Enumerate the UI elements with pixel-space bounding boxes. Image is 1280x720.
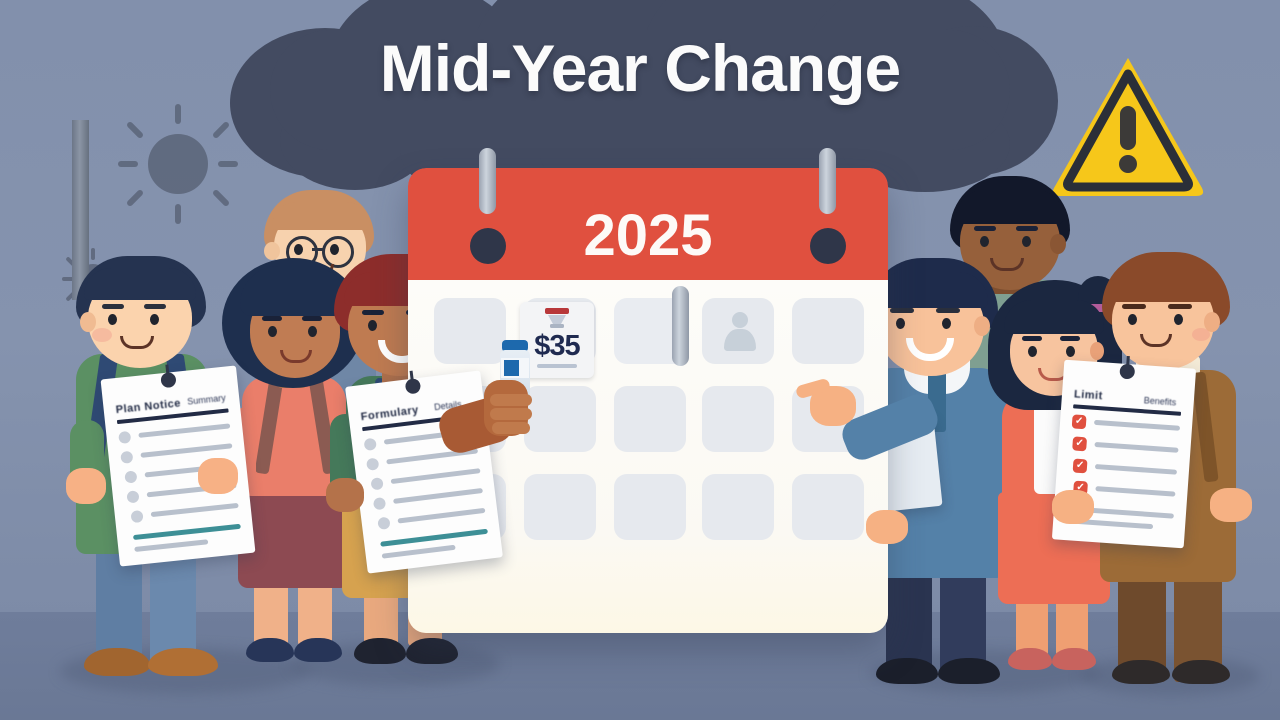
eyebrow: [144, 304, 166, 309]
binder-ring-base: [470, 228, 506, 264]
eye: [268, 326, 277, 337]
eyebrow: [974, 226, 996, 231]
calendar-cell[interactable]: [792, 298, 864, 364]
check-mark-icon: [364, 438, 377, 451]
person-icon: [724, 312, 754, 352]
document-line: [1094, 420, 1180, 431]
check-mark-icon: [126, 490, 139, 503]
eye: [108, 314, 117, 325]
check-mark-icon: [370, 477, 383, 490]
check-mark-icon: ✓: [1072, 414, 1087, 429]
eye: [294, 244, 303, 255]
hair-fringe: [84, 268, 196, 300]
hair-fringe: [874, 272, 988, 308]
binder-ring-base: [810, 228, 846, 264]
calendar-cell[interactable]: [614, 386, 686, 452]
eye: [896, 318, 905, 329]
eyebrow: [1060, 336, 1080, 341]
eye: [1028, 346, 1037, 357]
hand: [198, 458, 238, 494]
eye: [1128, 314, 1137, 325]
hair-fringe: [272, 202, 370, 230]
eye: [150, 314, 159, 325]
document-meta: Summary: [187, 393, 226, 407]
check-mark-icon: [118, 431, 131, 444]
eyebrow: [936, 308, 960, 313]
hand: [1052, 490, 1094, 524]
document-line: [134, 539, 208, 552]
binder-ring: [819, 148, 836, 214]
illustration-canvas: Mid-Year Change: [0, 0, 1280, 720]
eyebrow: [890, 308, 914, 313]
shoe: [354, 638, 406, 664]
binder-ring: [479, 148, 496, 214]
document-line: [382, 545, 456, 559]
check-mark-icon: ✓: [1073, 458, 1088, 473]
calendar-cell[interactable]: [524, 474, 596, 540]
shoe: [406, 638, 458, 664]
eye: [1022, 236, 1031, 247]
eyebrow: [102, 304, 124, 309]
cheek: [1192, 328, 1210, 341]
document-line: [151, 503, 239, 517]
clip-icon: [405, 378, 422, 395]
check-mark-icon: ✓: [1072, 436, 1087, 451]
vial-hand: [440, 372, 536, 464]
calendar-cell[interactable]: [702, 474, 774, 540]
check-mark-icon: [366, 458, 379, 471]
eyebrow: [302, 316, 322, 321]
ear: [1050, 234, 1066, 254]
hair-fringe: [1108, 268, 1218, 302]
hair-fringe: [956, 190, 1064, 224]
eye: [980, 236, 989, 247]
check-mark-icon: [377, 517, 390, 530]
hand: [866, 510, 908, 544]
price-note-rule: [537, 364, 577, 368]
document-line: [1094, 442, 1178, 453]
eyebrow: [1022, 336, 1042, 341]
ear: [80, 312, 96, 332]
binder-ring: [672, 286, 689, 366]
document-line: [1095, 464, 1177, 475]
calendar-cell-person[interactable]: [702, 298, 774, 364]
hand: [1210, 488, 1252, 522]
eye: [1066, 346, 1075, 357]
calendar-cell[interactable]: [792, 474, 864, 540]
shoe: [1172, 660, 1230, 684]
eyebrow: [262, 316, 282, 321]
document-line-accent: [380, 529, 488, 547]
hand: [326, 478, 364, 512]
headline-title: Mid-Year Change: [240, 30, 1040, 106]
document-line-accent: [133, 524, 241, 540]
eyebrow: [362, 310, 384, 315]
document-line: [138, 423, 230, 438]
calendar-cell[interactable]: [614, 474, 686, 540]
eyebrow: [1016, 226, 1038, 231]
eyebrow: [1122, 304, 1146, 309]
document-line: [397, 508, 485, 524]
sun-icon: [118, 104, 238, 224]
shoe: [148, 648, 218, 676]
hand: [66, 468, 106, 504]
glasses-bridge: [312, 248, 324, 251]
document-title: Limit: [1074, 388, 1104, 402]
eye: [368, 320, 377, 331]
eyebrow: [1168, 304, 1192, 309]
clip-icon: [1119, 364, 1135, 380]
check-mark-icon: [130, 510, 143, 523]
eye: [1174, 314, 1183, 325]
shoe: [1008, 648, 1052, 670]
document-line: [391, 468, 481, 484]
eye: [942, 318, 951, 329]
document-line: [393, 488, 483, 504]
clip-icon: [160, 372, 176, 388]
calendar-cell[interactable]: [702, 386, 774, 452]
document-line: [1095, 486, 1175, 497]
check-mark-icon: [124, 470, 137, 483]
check-mark-icon: [120, 451, 133, 464]
medicine-vial-icon: [537, 307, 577, 331]
cheek: [92, 328, 112, 342]
check-mark-icon: [373, 497, 386, 510]
calendar-cell[interactable]: [434, 298, 506, 364]
shoe: [84, 648, 150, 676]
eye: [308, 326, 317, 337]
document-line: [140, 443, 232, 458]
shoe: [876, 658, 938, 684]
shoe: [1112, 660, 1170, 684]
document-meta: Benefits: [1143, 395, 1176, 407]
shoe: [246, 638, 294, 662]
